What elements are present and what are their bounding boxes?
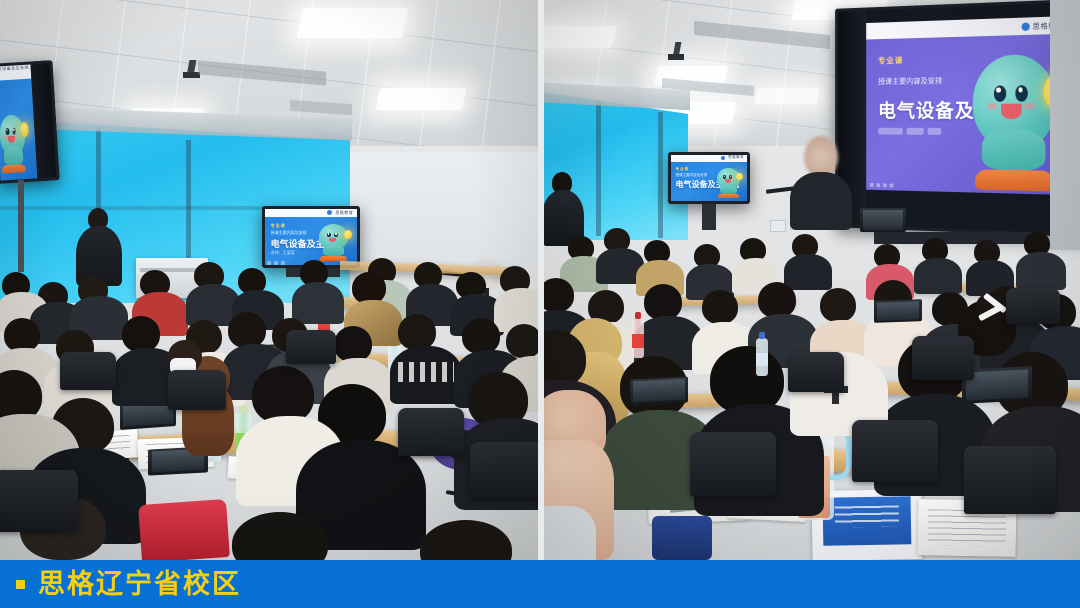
- mascot-icon: [0, 110, 29, 174]
- chair: [286, 330, 336, 364]
- student-head: [4, 318, 40, 352]
- mascot-icon: [317, 222, 351, 261]
- chair: [398, 408, 464, 456]
- student-head: [820, 288, 856, 322]
- slide-canvas: 电气设备及主系统 思格教育: [0, 0, 1080, 608]
- slide-tray: [267, 261, 285, 265]
- caption-label: 思格辽宁省校区: [38, 571, 241, 598]
- student-head: [334, 326, 372, 362]
- ceiling-light: [544, 26, 617, 48]
- ceiling-light: [297, 8, 409, 38]
- student-body: [784, 254, 832, 290]
- shirt-graphic: [398, 362, 454, 382]
- chair: [168, 370, 226, 410]
- chair: [852, 420, 938, 482]
- chair: [470, 442, 538, 498]
- student-body: [292, 282, 344, 324]
- water-bottle: [632, 318, 644, 358]
- student-head: [462, 318, 500, 354]
- laptop: [874, 299, 922, 323]
- ceiling-projector: [668, 54, 684, 60]
- backpack: [652, 516, 712, 560]
- bullet-icon: [16, 580, 25, 589]
- student-head: [506, 324, 538, 358]
- student-head: [544, 278, 574, 312]
- brand-logo: 思格教育: [721, 155, 744, 160]
- chair: [1006, 288, 1060, 324]
- student-head: [228, 312, 266, 348]
- secondary-monitor-slide: 思格教育 专业课 授课主要内容及安排 电气设备及主系统: [670, 154, 748, 202]
- ceiling-light: [375, 88, 466, 110]
- display-mount-bar: [874, 232, 1034, 244]
- student-body: [914, 258, 962, 294]
- chair: [60, 352, 116, 390]
- slide-pills: [878, 128, 941, 135]
- secondary-monitor: 思格教育 专业课 授课主要内容及安排 电气设备及主系统: [668, 152, 750, 204]
- front-display-slide: 思格教育 专业课 授课主要内容及安排 电气设备及主系统 讲师：王某某: [264, 208, 358, 266]
- student-head: [644, 284, 682, 320]
- side-wall-panel: [1050, 0, 1080, 250]
- student-head: [122, 316, 160, 352]
- slide-tray: [870, 183, 893, 187]
- window-mullion: [658, 112, 663, 238]
- mascot-icon: [715, 166, 742, 198]
- chair: [0, 470, 78, 532]
- podium-laptop: [860, 208, 906, 232]
- chair-red: [138, 499, 230, 560]
- student-head: [758, 282, 796, 318]
- monitor-stand: [702, 204, 716, 230]
- front-display-left-photo: 思格教育 专业课 授课主要内容及安排 电气设备及主系统 讲师：王某某: [262, 206, 360, 268]
- student-head: [398, 314, 436, 350]
- chair: [788, 352, 844, 392]
- wall-outlet: [770, 220, 786, 232]
- photo-left: 电气设备及主系统 思格教育: [0, 0, 538, 560]
- water-bottle: [756, 338, 768, 376]
- brand-logo: 思格教育: [327, 210, 353, 216]
- student-body: [1016, 252, 1066, 290]
- side-monitor-left-wall: 电气设备及主系统: [0, 60, 60, 184]
- monitor-stand-pole: [18, 180, 24, 272]
- chair: [964, 446, 1056, 514]
- front-wall-panel: [350, 152, 538, 264]
- chair: [690, 432, 776, 496]
- ceiling-light: [754, 88, 819, 104]
- student-body: [790, 172, 852, 230]
- caption-bar: 思格辽宁省校区: [0, 560, 1080, 608]
- classroom-scene-right: 思格教育 专业课 授课主要内容及安排 电气设备及主系统: [544, 0, 1080, 560]
- main-display-slide: 思格教育 专业课 授课主要内容及安排 电气设备及主系统: [864, 16, 1073, 195]
- main-display: 思格教育 专业课 授课主要内容及安排 电气设备及主系统: [835, 0, 1080, 237]
- chair: [912, 336, 974, 380]
- laptop: [630, 376, 688, 405]
- window-mullion: [596, 100, 601, 236]
- classroom-scene-left: 电气设备及主系统 思格教育: [0, 0, 538, 560]
- photo-right: 思格教育 专业课 授课主要内容及安排 电气设备及主系统: [544, 0, 1080, 560]
- student-head: [702, 290, 738, 324]
- sleeve: [544, 506, 596, 560]
